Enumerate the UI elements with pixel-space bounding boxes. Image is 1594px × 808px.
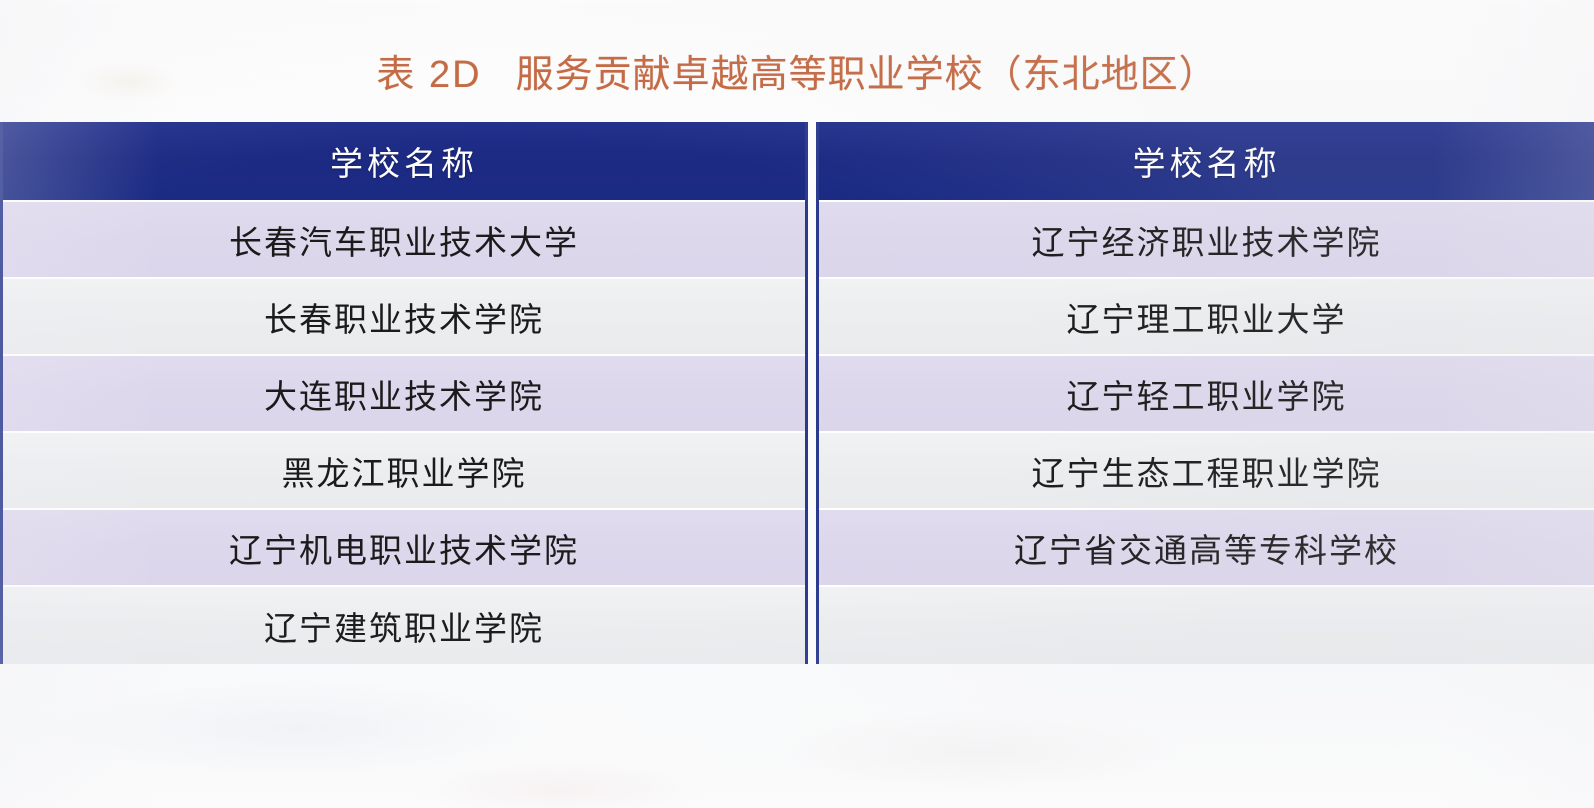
school-name: 辽宁生态工程职业学院	[1032, 447, 1382, 495]
school-name: 辽宁省交通高等专科学校	[1014, 524, 1399, 572]
school-name: 长春职业技术学院	[264, 293, 544, 341]
table-row[interactable]: 辽宁省交通高等专科学校	[819, 510, 1594, 587]
table-title: 表 2D服务贡献卓越高等职业学校（东北地区）	[0, 52, 1594, 98]
school-name: 长春汽车职业技术大学	[229, 216, 579, 264]
table-row[interactable]: 辽宁理工职业大学	[819, 279, 1594, 356]
table-row[interactable]: 大连职业技术学院	[3, 356, 805, 433]
table-row[interactable]: 辽宁建筑职业学院	[3, 587, 805, 664]
school-name: 辽宁机电职业技术学院	[229, 524, 579, 572]
column-header-left: 学校名称	[3, 122, 805, 202]
table-pair: 学校名称 长春汽车职业技术大学 长春职业技术学院 大连职业技术学院 黑龙江职业学…	[0, 122, 1594, 668]
table-row[interactable]: 辽宁生态工程职业学院	[819, 433, 1594, 510]
table-row[interactable]: 辽宁经济职业技术学院	[819, 202, 1594, 279]
table-row[interactable]: 黑龙江职业学院	[3, 433, 805, 510]
table-title-text: 服务贡献卓越高等职业学校（东北地区）	[516, 54, 1218, 96]
school-name: 大连职业技术学院	[264, 370, 544, 418]
school-name: 辽宁建筑职业学院	[264, 602, 544, 650]
school-name: 辽宁理工职业大学	[1067, 293, 1347, 341]
school-name: 辽宁经济职业技术学院	[1032, 216, 1382, 264]
school-table-left: 学校名称 长春汽车职业技术大学 长春职业技术学院 大连职业技术学院 黑龙江职业学…	[0, 122, 808, 664]
school-name: 黑龙江职业学院	[282, 447, 527, 495]
table-row[interactable]: 辽宁轻工职业学院	[819, 356, 1594, 433]
table-title-label: 表 2D	[376, 54, 481, 96]
table-row[interactable]: 长春汽车职业技术大学	[3, 202, 805, 279]
table-row-empty[interactable]	[819, 587, 1594, 664]
school-table-right: 学校名称 辽宁经济职业技术学院 辽宁理工职业大学 辽宁轻工职业学院 辽宁生态工程…	[816, 122, 1594, 664]
table-row[interactable]: 辽宁机电职业技术学院	[3, 510, 805, 587]
column-header-right: 学校名称	[819, 122, 1594, 202]
table-row[interactable]: 长春职业技术学院	[3, 279, 805, 356]
school-name: 辽宁轻工职业学院	[1067, 370, 1347, 418]
